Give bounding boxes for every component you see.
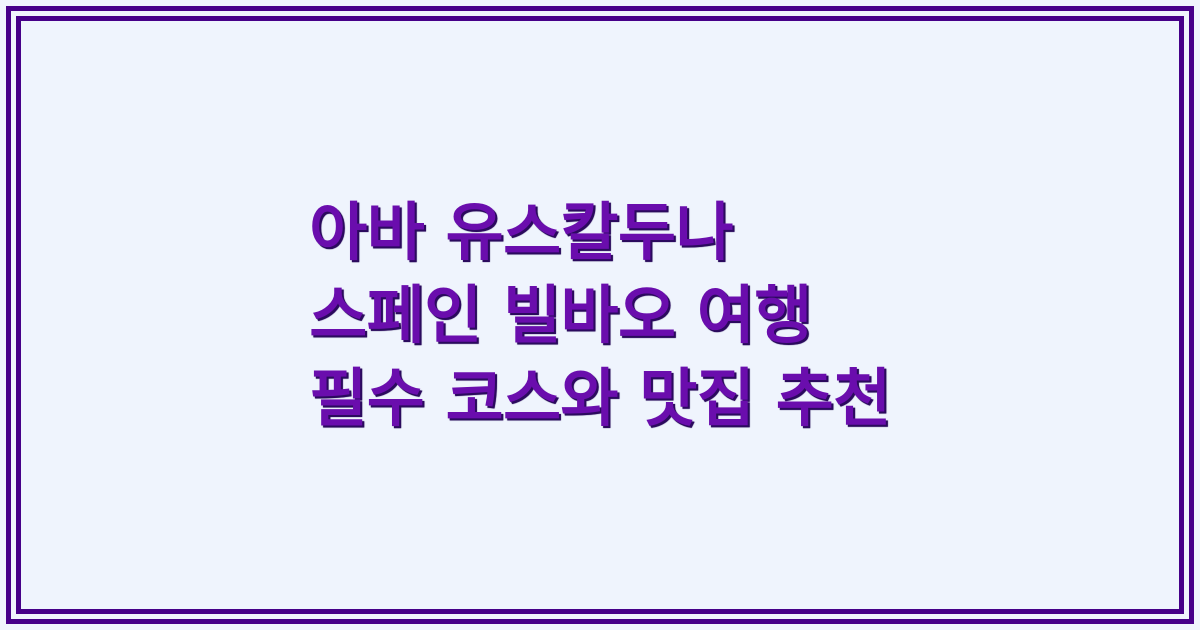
title-line-3: 필수 코스와 맛집 추천 [309, 357, 890, 440]
title-stage: 아바 유스칼두나 스페인 빌바오 여행 필수 코스와 맛집 추천 [0, 0, 1200, 630]
thumbnail-card: 아바 유스칼두나 스페인 빌바오 여행 필수 코스와 맛집 추천 [0, 0, 1200, 630]
title-line-1: 아바 유스칼두나 [309, 191, 890, 274]
page-title: 아바 유스칼두나 스페인 빌바오 여행 필수 코스와 맛집 추천 [309, 191, 890, 440]
title-line-2: 스페인 빌바오 여행 [309, 274, 890, 357]
